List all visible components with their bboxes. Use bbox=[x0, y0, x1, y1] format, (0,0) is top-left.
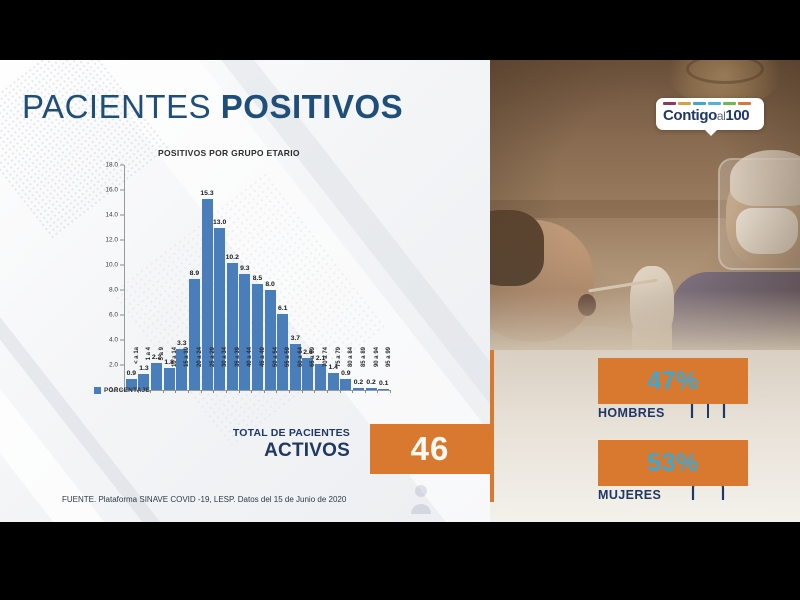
stat-label-hombres: HOMBRES bbox=[598, 406, 768, 420]
stat-row-mujeres: 53% MUJERES bbox=[490, 440, 800, 512]
logo-color-bar bbox=[738, 102, 751, 105]
total-label-line1: TOTAL DE PACIENTES bbox=[233, 428, 350, 439]
y-axis-tick-label: 18.0 bbox=[105, 162, 118, 169]
logo-text: Contigoal100 bbox=[663, 107, 749, 124]
bar-data-label: 13.0 bbox=[205, 219, 235, 226]
chart-bars: 0.9< a 1a1.31 a 42.25 a 91.810 a 143.315… bbox=[125, 165, 390, 390]
logo-color-bars bbox=[663, 102, 751, 105]
total-banner: TOTAL DE PACIENTES ACTIVOS 46 bbox=[0, 424, 490, 476]
total-value-box: 46 bbox=[370, 424, 490, 474]
source-note: FUENTE. Plataforma SINAVE COVID -19, LES… bbox=[62, 495, 346, 504]
bar-data-label: 3.7 bbox=[280, 335, 310, 342]
bar-data-label: 0.1 bbox=[369, 380, 399, 387]
logo-brand-num: 100 bbox=[725, 107, 749, 124]
left-panel: PACIENTES POSITIVOS POSITIVOS POR GRUPO … bbox=[0, 60, 490, 522]
right-panel: Contigoal100 47% HOMBRES bbox=[490, 60, 800, 522]
y-axis-tick-label: 2.0 bbox=[109, 362, 118, 369]
logo-color-bar bbox=[663, 102, 676, 105]
logo-color-bar bbox=[678, 102, 691, 105]
chart-title: POSITIVOS POR GRUPO ETARIO bbox=[158, 148, 300, 158]
bar-data-label: 10.2 bbox=[217, 254, 247, 261]
bar-data-label: 6.1 bbox=[268, 305, 298, 312]
slide-stage: PACIENTES POSITIVOS POSITIVOS POR GRUPO … bbox=[0, 0, 800, 600]
legend-swatch bbox=[94, 387, 101, 394]
stat-value-mujeres: 53% bbox=[647, 449, 699, 478]
legend-label: PORCENTAJE bbox=[104, 387, 150, 394]
total-value: 46 bbox=[411, 430, 450, 468]
total-label-line2: ACTIVOS bbox=[233, 441, 350, 460]
y-axis-tick-label: 16.0 bbox=[105, 187, 118, 194]
y-axis-tick-label: 8.0 bbox=[109, 287, 118, 294]
page-title: PACIENTES POSITIVOS bbox=[22, 88, 403, 126]
slide-canvas: PACIENTES POSITIVOS POSITIVOS POR GRUPO … bbox=[0, 60, 800, 522]
title-light: PACIENTES bbox=[22, 88, 221, 125]
chart-legend: PORCENTAJE bbox=[94, 387, 150, 394]
stat-value-hombres: 47% bbox=[647, 367, 699, 396]
logo-color-bar bbox=[708, 102, 721, 105]
y-axis: 0.02.04.06.08.010.012.014.016.018.0 bbox=[90, 165, 124, 390]
y-axis-tick-label: 6.0 bbox=[109, 312, 118, 319]
stat-row-hombres: 47% HOMBRES bbox=[490, 358, 800, 430]
contigo-al-100-logo: Contigoal100 bbox=[656, 98, 764, 130]
y-axis-tick-label: 4.0 bbox=[109, 337, 118, 344]
title-bold: POSITIVOS bbox=[221, 88, 403, 125]
logo-pointer bbox=[704, 129, 718, 136]
bar-chart: 0.02.04.06.08.010.012.014.016.018.0 0.9<… bbox=[90, 165, 390, 440]
covid-test-photo: Contigoal100 bbox=[490, 60, 800, 350]
logo-color-bar bbox=[693, 102, 706, 105]
watermark-person-icon bbox=[408, 484, 434, 514]
bar-data-label: 9.3 bbox=[230, 265, 260, 272]
logo-brand-main: Contigo bbox=[663, 107, 717, 124]
photo-bottom-fade bbox=[490, 290, 800, 350]
bar-data-label: 15.3 bbox=[192, 190, 222, 197]
stat-value-box-hombres: 47% bbox=[598, 358, 748, 404]
bar-data-label: 8.0 bbox=[255, 281, 285, 288]
x-axis-tick-label: 95 a 99 bbox=[386, 347, 392, 397]
y-axis-tick-label: 10.0 bbox=[105, 262, 118, 269]
gender-stats-panel: 47% HOMBRES 53% MUJERES bbox=[490, 350, 800, 522]
y-axis-tick-label: 14.0 bbox=[105, 212, 118, 219]
stat-value-box-mujeres: 53% bbox=[598, 440, 748, 486]
bar-data-label: 0.9 bbox=[331, 370, 361, 377]
bar-data-label: 2.1 bbox=[306, 355, 336, 362]
total-label-block: TOTAL DE PACIENTES ACTIVOS bbox=[233, 428, 350, 460]
logo-color-bar bbox=[723, 102, 736, 105]
y-axis-tick-label: 12.0 bbox=[105, 237, 118, 244]
stat-label-mujeres: MUJERES bbox=[598, 488, 768, 502]
